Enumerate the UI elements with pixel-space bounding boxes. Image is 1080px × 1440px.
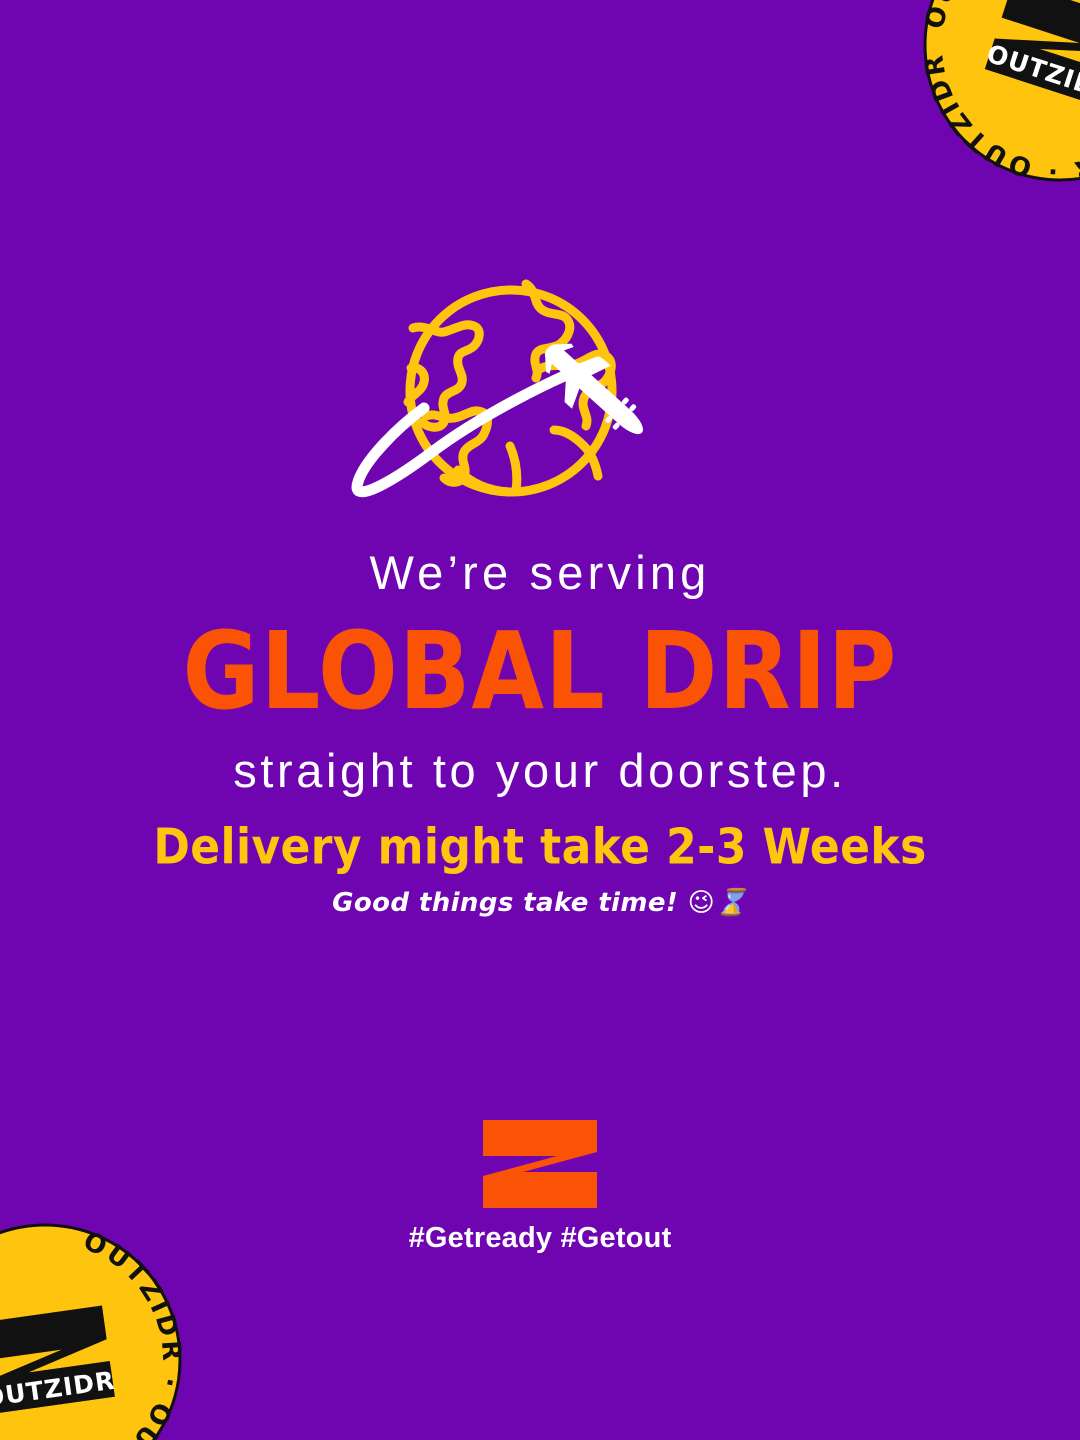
stamp-bottom-left: OUTZIDR · OUTZIDR · OUTZIDR · OUTZIDR · … [0, 1215, 190, 1440]
hero-illustration [340, 270, 720, 520]
outzidr-z-logo-icon [477, 1118, 603, 1210]
outzidr-stamp-badge: OUTZIDR · OUTZIDR · OUTZIDR · OUTZIDR · … [915, 0, 1080, 190]
headline-line-doorstep: straight to your doorstep. [0, 746, 1080, 795]
delivery-headline: Delivery might take 2-3 Weeks [0, 820, 1080, 877]
outzidr-stamp-badge: OUTZIDR · OUTZIDR · OUTZIDR · OUTZIDR · … [0, 1215, 190, 1440]
promo-poster: We’re serving GLOBAL DRIP straight to yo… [0, 0, 1080, 1440]
headline-line-serving: We’re serving [0, 548, 1080, 597]
headline-line-global-drip: GLOBAL DRIP [0, 607, 1080, 737]
globe-airplane-graphic [340, 270, 720, 520]
stamp-top-right: OUTZIDR · OUTZIDR · OUTZIDR · OUTZIDR · … [915, 0, 1080, 195]
delivery-block: Delivery might take 2-3 Weeks Good thing… [0, 820, 1080, 918]
headline-block: We’re serving GLOBAL DRIP straight to yo… [0, 548, 1080, 795]
delivery-subline: Good things take time! 😉⌛ [0, 888, 1080, 918]
